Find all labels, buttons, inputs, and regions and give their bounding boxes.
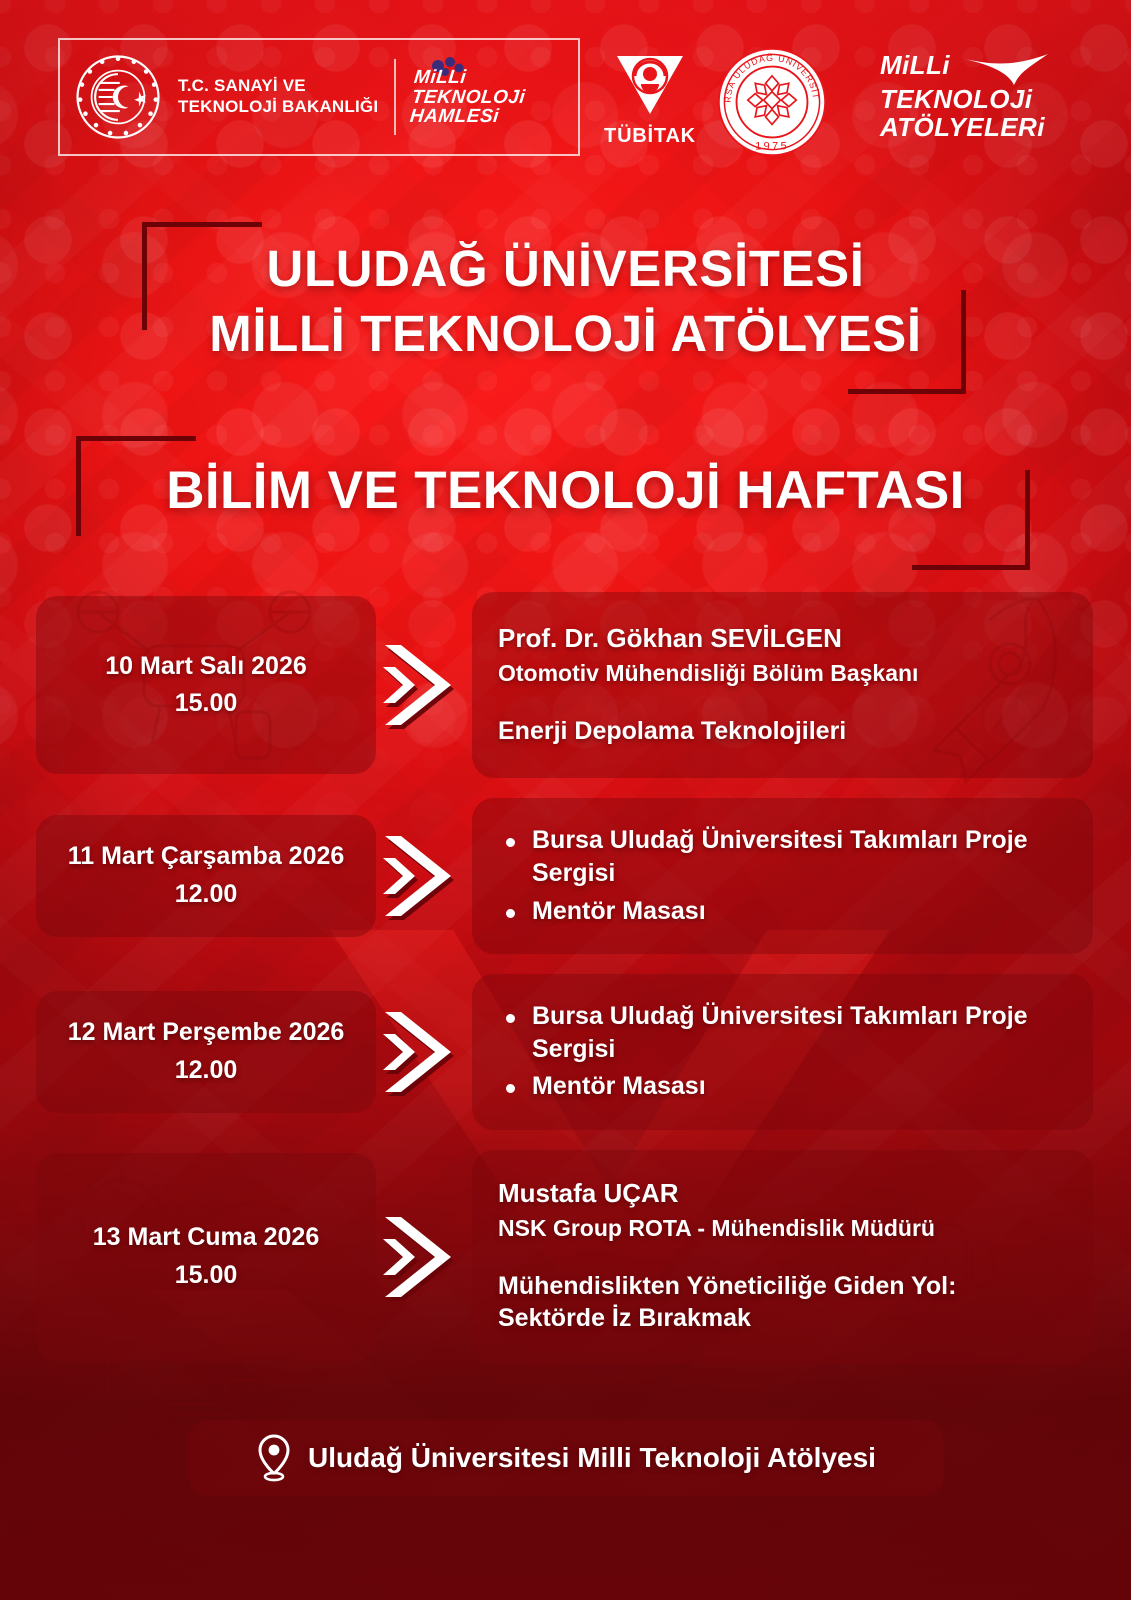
- date-text: 13 Mart Cuma 2026 15.00: [85, 1205, 328, 1308]
- tubitak-label: TÜBİTAK: [602, 125, 698, 148]
- venue-footer: Uludağ Üniversitesi Milli Teknoloji Atöl…: [188, 1420, 944, 1496]
- seal-year: 1975: [755, 141, 789, 153]
- event-date: 12 Mart Perşembe 2026: [68, 1018, 345, 1046]
- speaker-role: Otomotiv Mühendisliği Bölüm Başkanı: [498, 659, 1067, 689]
- date-card: 12 Mart Perşembe 2026 12.00: [36, 991, 376, 1113]
- list-item: Bursa Uludağ Üniversitesi Takımları Proj…: [498, 824, 1067, 891]
- chevron-arrow-icon: [376, 637, 472, 733]
- logo-divider: [394, 59, 396, 135]
- schedule-row: 13 Mart Cuma 2026 15.00 Mustafa UÇAR NSK…: [0, 1150, 1131, 1364]
- date-card: 11 Mart Çarşamba 2026 12.00: [36, 815, 376, 937]
- venue-name: Uludağ Üniversitesi Milli Teknoloji Atöl…: [308, 1442, 876, 1474]
- hamle-text: MiLLi TEKNOLOJi HAMLESi: [409, 68, 528, 127]
- poster: T.C. SANAYİ VE TEKNOLOJİ BAKANLIĞI MiLLi…: [0, 0, 1131, 1600]
- schedule-list: 10 Mart Salı 2026 15.00 Prof. Dr. Gökhan…: [0, 592, 1131, 1384]
- event-topic: Mühendislikten Yöneticiliğe Giden Yol: S…: [498, 1270, 1067, 1335]
- date-text: 11 Mart Çarşamba 2026 12.00: [60, 824, 353, 927]
- date-card: 13 Mart Cuma 2026 15.00: [36, 1153, 376, 1361]
- event-info-card: Bursa Uludağ Üniversitesi Takımları Proj…: [472, 974, 1093, 1130]
- bursa-uludag-university-seal-icon: BURSA ULUDAĞ ÜNİVERSİTESİ 1975: [716, 46, 828, 158]
- speaker-name: Mustafa UÇAR: [498, 1178, 1067, 1210]
- event-info-card: Bursa Uludağ Üniversitesi Takımları Proj…: [472, 798, 1093, 954]
- atolyeleri-line3: ATÖLYELERi: [880, 114, 1050, 142]
- chevron-arrow-icon: [376, 1209, 472, 1305]
- date-text: 12 Mart Perşembe 2026 12.00: [60, 1000, 353, 1103]
- page-title: ULUDAĞ ÜNİVERSİTESİ MİLLİ TEKNOLOJİ ATÖL…: [0, 236, 1131, 367]
- event-bullet-list: Bursa Uludağ Üniversitesi Takımları Proj…: [498, 820, 1067, 932]
- event-time: 15.00: [93, 1257, 320, 1295]
- event-time: 12.00: [68, 876, 345, 914]
- ministry-name-line2: TEKNOLOJİ BAKANLIĞI: [178, 97, 378, 118]
- list-item: Mentör Masası: [498, 1070, 1067, 1103]
- speaker-name: Prof. Dr. Gökhan SEVİLGEN: [498, 623, 1067, 655]
- event-bullet-list: Bursa Uludağ Üniversitesi Takımları Proj…: [498, 996, 1067, 1108]
- milli-teknoloji-atolyeleri-logo: MiLLi TEKNOLOJi ATÖLYELERi: [880, 52, 1050, 141]
- date-card: 10 Mart Salı 2026 15.00: [36, 596, 376, 774]
- turkish-ministry-emblem-icon: [74, 53, 162, 141]
- atolyeleri-line1: MiLLi: [880, 52, 950, 80]
- schedule-row: 10 Mart Salı 2026 15.00 Prof. Dr. Gökhan…: [0, 592, 1131, 778]
- schedule-row: 12 Mart Perşembe 2026 12.00 Bursa Uludağ…: [0, 974, 1131, 1130]
- chevron-arrow-icon: [376, 828, 472, 924]
- chevron-arrow-icon: [376, 1004, 472, 1100]
- date-text: 10 Mart Salı 2026 15.00: [97, 634, 315, 737]
- atolyeleri-line2: TEKNOLOJi: [880, 86, 1050, 114]
- speaker-role: NSK Group ROTA - Mühendislik Müdürü: [498, 1214, 1067, 1244]
- tubitak-logo: TÜBİTAK: [602, 52, 698, 148]
- ministry-name-line1: T.C. SANAYİ VE: [178, 76, 378, 97]
- event-info-card: Mustafa UÇAR NSK Group ROTA - Mühendisli…: [472, 1150, 1093, 1364]
- ministry-logo-frame: T.C. SANAYİ VE TEKNOLOJİ BAKANLIĞI MiLLi…: [58, 38, 580, 156]
- tubitak-logo-icon: [613, 52, 687, 118]
- event-time: 15.00: [105, 685, 307, 723]
- event-info-card: Prof. Dr. Gökhan SEVİLGEN Otomotiv Mühen…: [472, 592, 1093, 778]
- page-subtitle: BİLİM VE TEKNOLOJİ HAFTASI: [0, 460, 1131, 521]
- event-time: 12.00: [68, 1052, 345, 1090]
- hamle-line3: HAMLESi: [409, 107, 524, 127]
- event-topic: Enerji Depolama Teknolojileri: [498, 715, 1067, 748]
- event-date: 11 Mart Çarşamba 2026: [68, 842, 345, 870]
- page-title-line1: ULUDAĞ ÜNİVERSİTESİ: [0, 236, 1131, 301]
- location-pin-icon: [256, 1433, 292, 1483]
- page-title-line2: MİLLİ TEKNOLOJİ ATÖLYESİ: [0, 301, 1131, 366]
- list-item: Mentör Masası: [498, 895, 1067, 928]
- schedule-row: 11 Mart Çarşamba 2026 12.00 Bursa Uludağ…: [0, 798, 1131, 954]
- milli-teknoloji-hamlesi-logo: MiLLi TEKNOLOJi HAMLESi: [412, 68, 525, 127]
- hamle-line2: TEKNOLOJi: [411, 87, 526, 107]
- star-swoosh-icon: [958, 52, 1050, 86]
- list-item: Bursa Uludağ Üniversitesi Takımları Proj…: [498, 1000, 1067, 1067]
- hamle-line1: MiLLi: [413, 68, 528, 88]
- event-date: 10 Mart Salı 2026: [105, 652, 307, 680]
- ministry-name: T.C. SANAYİ VE TEKNOLOJİ BAKANLIĞI: [178, 76, 378, 117]
- event-date: 13 Mart Cuma 2026: [93, 1223, 320, 1251]
